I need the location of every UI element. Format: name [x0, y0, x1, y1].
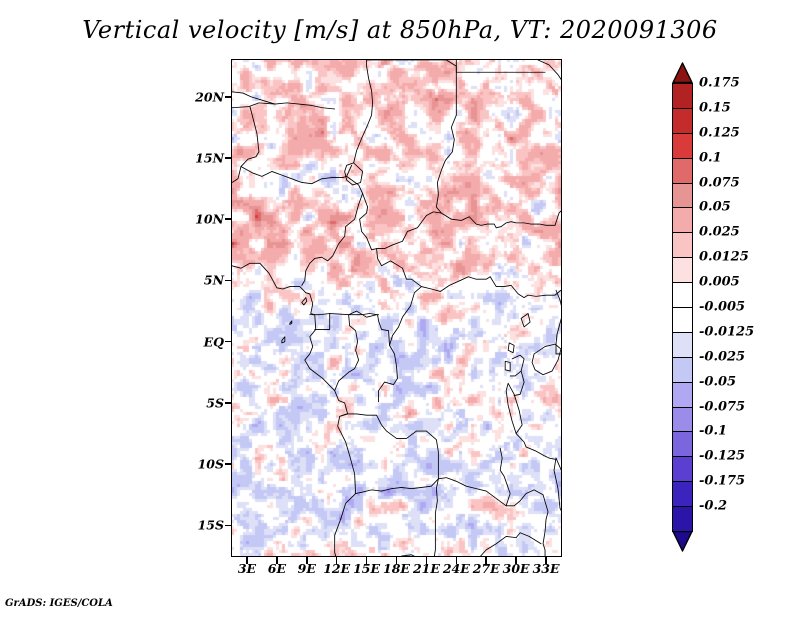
colorbar-tick-label: -0.025 [699, 349, 745, 364]
colorbar-band[interactable] [672, 83, 693, 109]
colorbar-band[interactable] [672, 108, 693, 134]
y-axis-tick-mark [225, 402, 232, 404]
colorbar-band[interactable] [672, 382, 693, 408]
colorbar-band[interactable] [672, 158, 693, 184]
x-axis-tick-mark [396, 557, 398, 564]
colorbar-band[interactable] [672, 407, 693, 433]
grads-credit: GrADS: IGES/COLA [5, 598, 113, 609]
colorbar-band[interactable] [672, 307, 693, 333]
colorbar-band[interactable] [672, 183, 693, 209]
colorbar-tick-label: -0.175 [699, 474, 745, 489]
x-axis-tick-mark [246, 557, 248, 564]
colorbar-tick-label: 0.125 [699, 125, 740, 140]
colorbar-tick-label: -0.2 [699, 499, 727, 514]
colorbar-band[interactable] [672, 232, 693, 258]
x-axis-tick-mark [336, 557, 338, 564]
colorbar-tick-label: 0.025 [699, 225, 740, 240]
x-axis-tick-mark [545, 557, 547, 564]
colorbar-tick-label: -0.0125 [699, 324, 754, 339]
x-axis-tick-mark [426, 557, 428, 564]
x-axis-tick-mark [456, 557, 458, 564]
colorbar-tick-label: -0.005 [699, 300, 745, 315]
x-axis-tick-mark [485, 557, 487, 564]
colorbar-band[interactable] [672, 456, 693, 482]
colorbar-tick-label: -0.075 [699, 399, 745, 414]
colorbar-tick-label: 0.075 [699, 175, 740, 190]
y-axis-tick-mark [225, 280, 232, 282]
y-axis-tick-mark [225, 218, 232, 220]
colorbar-band[interactable] [672, 257, 693, 283]
colorbar-band[interactable] [672, 481, 693, 507]
x-axis-tick-mark [366, 557, 368, 564]
colorbar-band[interactable] [672, 332, 693, 358]
y-axis-tick-mark [225, 157, 232, 159]
colorbar-tick-label: 0.005 [699, 275, 740, 290]
y-axis-tick-mark [225, 96, 232, 98]
x-axis-tick-mark [306, 557, 308, 564]
colorbar-tick-label: 0.15 [699, 100, 731, 115]
colorbar-band[interactable] [672, 133, 693, 159]
colorbar-band[interactable] [672, 431, 693, 457]
colorbar-band[interactable] [672, 357, 693, 383]
colorbar-tick-label: 0.05 [699, 200, 731, 215]
colorbar-tick-label: 0.0125 [699, 250, 749, 265]
colorbar-tick-label: -0.125 [699, 449, 745, 464]
colorbar-band[interactable] [672, 282, 693, 308]
x-axis-tick-mark [276, 557, 278, 564]
y-axis-tick-mark [225, 463, 232, 465]
colorbar-tick-label: -0.05 [699, 374, 736, 389]
colorbar-tick-label: -0.1 [699, 424, 727, 439]
x-axis-tick-mark [515, 557, 517, 564]
y-axis-tick-mark [225, 525, 232, 527]
y-axis-tick-mark [225, 341, 232, 343]
colorbar-tick-label: 0.175 [699, 76, 740, 91]
colorbar-tick-label: 0.1 [699, 150, 722, 165]
colorbar-band[interactable] [672, 207, 693, 233]
colorbar-cap-min [672, 531, 693, 552]
colorbar-cap-max [672, 62, 693, 83]
colorbar-band[interactable] [672, 506, 693, 532]
colorbar[interactable] [672, 62, 693, 552]
